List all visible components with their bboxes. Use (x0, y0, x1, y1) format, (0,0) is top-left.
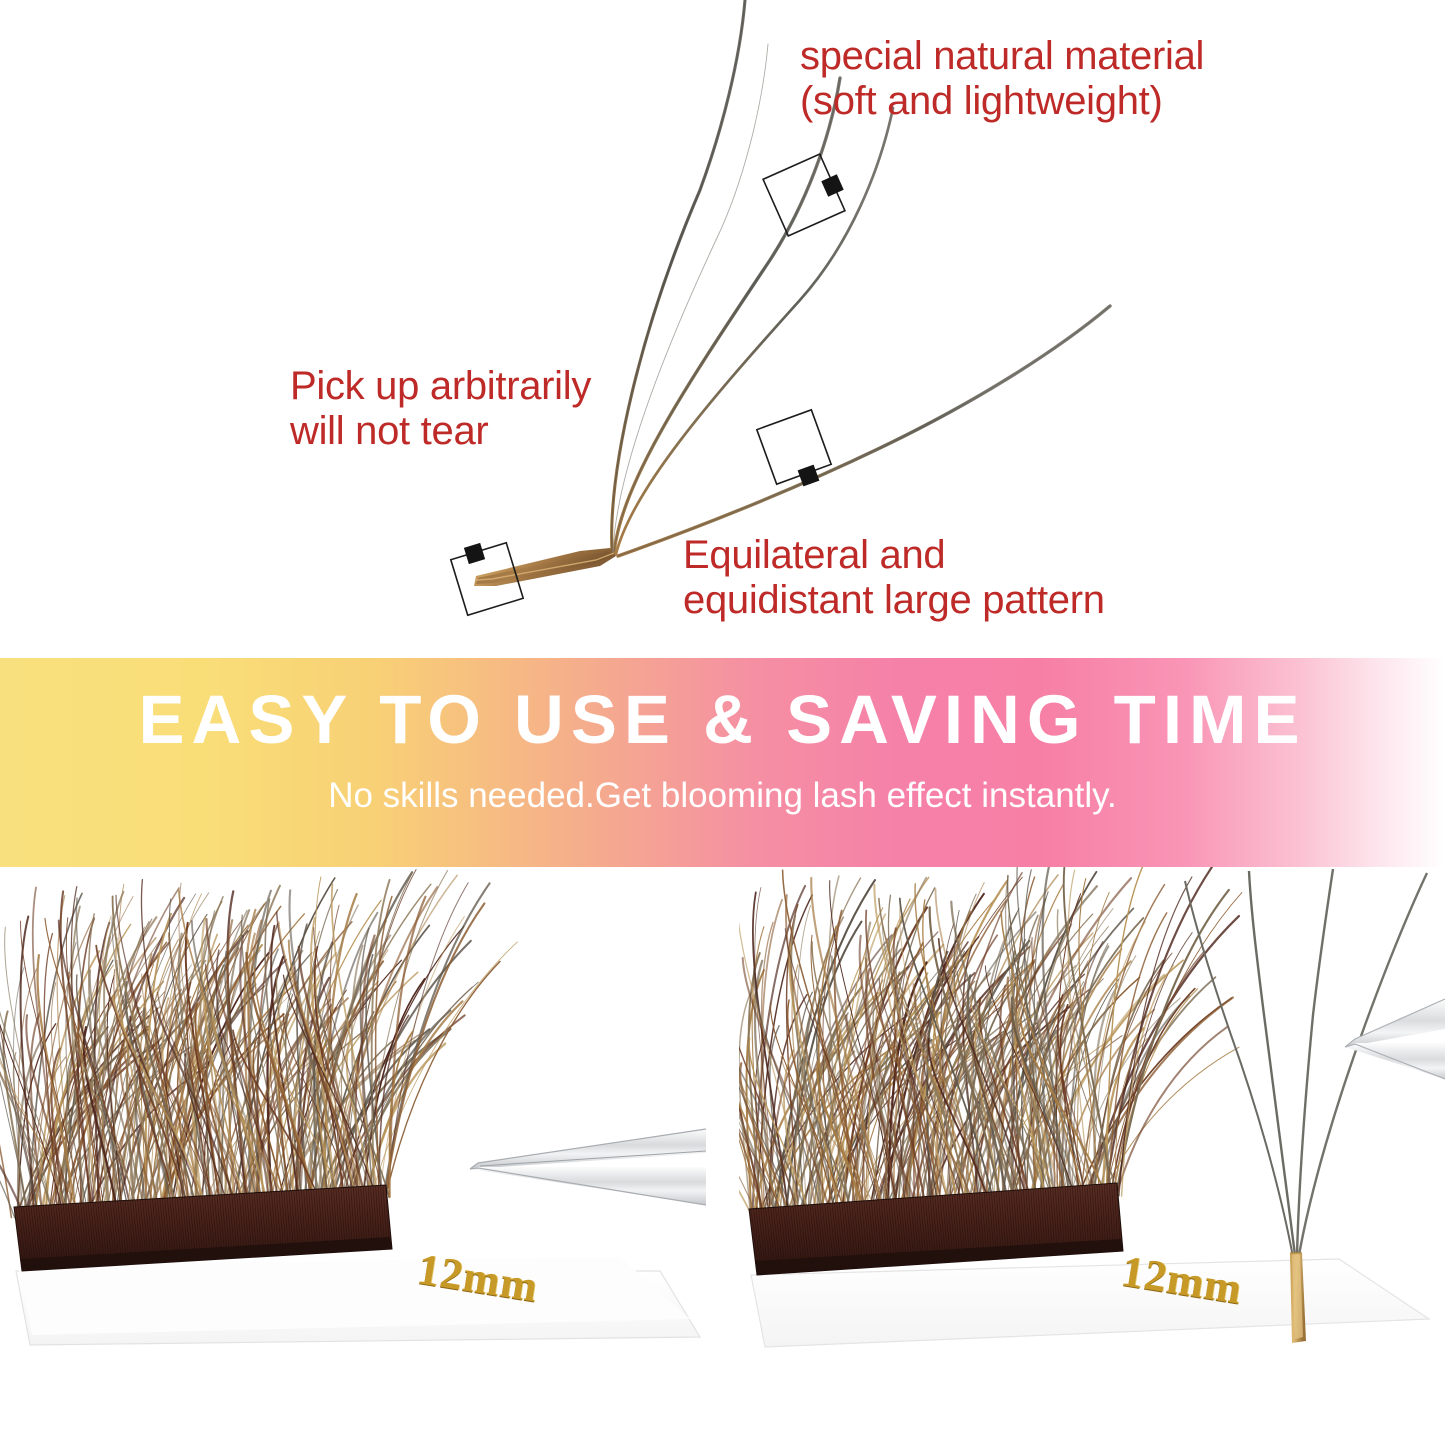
bottom-photo-section: 12mm (0, 867, 1445, 1445)
lash-tray-right-photo (739, 867, 1445, 1445)
callout-equilateral-equidistant: Equilateral and equidistant large patter… (683, 533, 1105, 623)
callout-pick-up-arbitrarily: Pick up arbitrarily will not tear (290, 364, 591, 454)
tweezer-right (1345, 999, 1445, 1079)
photo-panel-right: 12mm (739, 867, 1445, 1445)
lash-tray-left-photo (0, 867, 706, 1445)
tweezer-left (470, 1129, 706, 1205)
lash-base-ribbon (474, 548, 616, 586)
callout-special-natural-material: special natural material (soft and light… (800, 34, 1204, 124)
easy-to-use-banner: EASY TO USE & SAVING TIME No skills need… (0, 658, 1445, 867)
product-infographic: special natural material (soft and light… (0, 0, 1445, 1445)
banner-subheadline: No skills needed.Get blooming lash effec… (0, 778, 1445, 813)
photo-panel-left: 12mm (0, 867, 706, 1445)
banner-headline: EASY TO USE & SAVING TIME (0, 685, 1445, 754)
top-feature-section: special natural material (soft and light… (0, 0, 1445, 658)
